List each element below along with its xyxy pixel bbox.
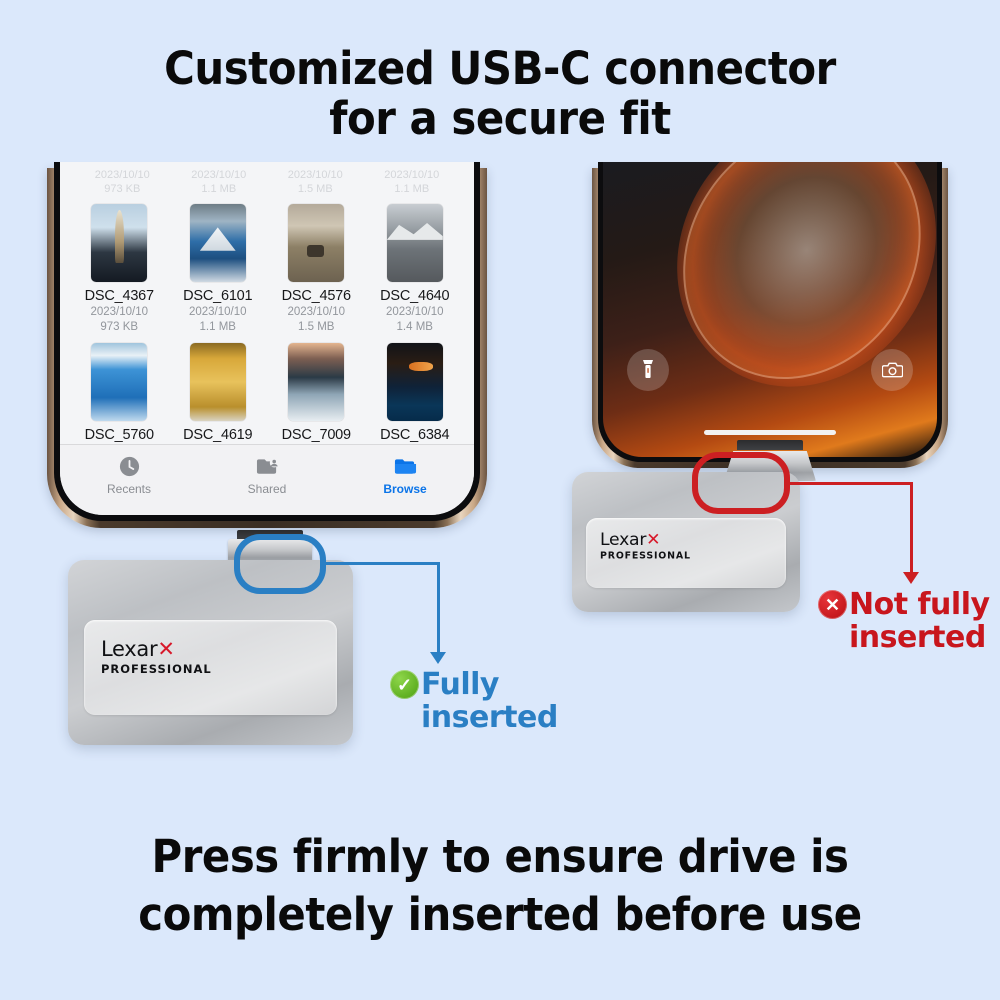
partial-date: 2023/10/10 [171, 168, 268, 182]
partial-date: 2023/10/10 [74, 168, 171, 182]
file-tile[interactable]: DSC_4619 [171, 335, 266, 444]
partial-date: 2023/10/10 [364, 168, 461, 182]
leader-arrowhead [430, 652, 446, 664]
phone-right-screen [603, 162, 937, 457]
lexar-wordmark: Lexar✕ [101, 638, 175, 660]
lexar-tier: PROFESSIONAL [600, 550, 691, 561]
leader-horizontal [786, 482, 913, 485]
headline: Customized USB-C connector for a secure … [35, 44, 965, 144]
file-size: 1.5 MB [269, 320, 364, 335]
callout-line-2: inserted [421, 701, 558, 734]
file-thumbnail [387, 343, 443, 421]
partial-meta-cell: 2023/10/10 973 KB [74, 168, 171, 196]
camera-icon [882, 361, 903, 379]
file-tile[interactable]: DSC_6384 [368, 335, 463, 444]
partial-meta-cell: 2023/10/10 1.1 MB [171, 168, 268, 196]
file-thumbnail [288, 343, 344, 421]
tab-shared[interactable]: Shared [198, 453, 336, 497]
file-thumbnail [387, 204, 443, 282]
file-name: DSC_7009 [269, 427, 364, 444]
footer-line-2: completely inserted before use [35, 886, 965, 944]
file-date: 2023/10/10 [368, 305, 463, 320]
file-grid-row-2: DSC_5760 DSC_4619 DSC_7009 DSC_6384 [60, 335, 474, 444]
tab-recents[interactable]: Recents [60, 453, 198, 497]
file-grid-row-1: DSC_4367 2023/10/10 973 KB DSC_6101 2023… [60, 196, 474, 335]
file-tile[interactable]: DSC_4576 2023/10/10 1.5 MB [269, 196, 364, 335]
partial-meta-cell: 2023/10/10 1.5 MB [267, 168, 364, 196]
lexar-brand-left: Lexar✕ PROFESSIONAL [101, 638, 212, 676]
files-tab-bar: Recents Shared [60, 444, 474, 515]
file-name: DSC_5760 [72, 427, 167, 444]
lexar-x-accent: ✕ [157, 637, 174, 661]
file-thumbnail [288, 204, 344, 282]
files-partial-top-row: 2023/10/10 973 KB 2023/10/10 1.1 MB 2023… [60, 162, 474, 196]
phone-left-screen: 2023/10/10 973 KB 2023/10/10 1.1 MB 2023… [60, 162, 474, 515]
connector-neck [737, 440, 803, 450]
cross-icon: ✕ [818, 590, 847, 619]
check-icon: ✓ [390, 670, 419, 699]
callout-text: Fully inserted [421, 668, 558, 734]
callout-line-1: Fully [421, 667, 499, 702]
camera-button[interactable] [871, 349, 913, 391]
footer-caption: Press firmly to ensure drive is complete… [35, 828, 965, 944]
file-name: DSC_4619 [171, 427, 266, 444]
file-size: 1.1 MB [171, 320, 266, 335]
file-name: DSC_6384 [368, 427, 463, 444]
clock-icon [60, 453, 198, 479]
leader-horizontal [320, 562, 440, 565]
file-tile[interactable]: DSC_4640 2023/10/10 1.4 MB [368, 196, 463, 335]
partial-size: 1.1 MB [364, 182, 461, 196]
leader-arrowhead [903, 572, 919, 584]
lexar-x-accent: ✕ [646, 529, 660, 549]
file-thumbnail [91, 343, 147, 421]
highlight-ring-fully-inserted [234, 534, 326, 594]
flashlight-icon [640, 359, 656, 381]
file-date: 2023/10/10 [269, 305, 364, 320]
file-name: DSC_4640 [368, 288, 463, 305]
lexar-wordmark: Lexar✕ [600, 530, 660, 548]
file-thumbnail [190, 204, 246, 282]
callout-line-1: Not fully [849, 587, 990, 622]
file-tile[interactable]: DSC_6101 2023/10/10 1.1 MB [171, 196, 266, 335]
headline-line-2: for a secure fit [35, 94, 965, 144]
phone-right-bezel [598, 162, 942, 462]
phone-left: 2023/10/10 973 KB 2023/10/10 1.1 MB 2023… [47, 168, 487, 528]
leader-vertical [910, 482, 913, 574]
file-name: DSC_4576 [269, 288, 364, 305]
lexar-tier: PROFESSIONAL [101, 662, 212, 676]
lexar-text-part: Lexar [101, 637, 157, 661]
file-thumbnail [91, 204, 147, 282]
callout-not-fully-inserted: ✕ Not fully inserted [818, 588, 990, 654]
home-indicator [704, 430, 836, 435]
callout-fully-inserted: ✓ Fully inserted [390, 668, 558, 734]
lexar-brand-right: Lexar✕ PROFESSIONAL [600, 530, 691, 561]
highlight-ring-not-fully-inserted [692, 452, 790, 514]
folder-icon [336, 453, 474, 479]
file-date: 2023/10/10 [72, 305, 167, 320]
partial-size: 1.5 MB [267, 182, 364, 196]
lexar-text-part: Lexar [600, 529, 646, 549]
file-size: 1.4 MB [368, 320, 463, 335]
file-size: 973 KB [72, 320, 167, 335]
file-name: DSC_6101 [171, 288, 266, 305]
file-tile[interactable]: DSC_4367 2023/10/10 973 KB [72, 196, 167, 335]
headline-line-1: Customized USB-C connector [35, 44, 965, 94]
tab-label: Browse [336, 481, 474, 497]
file-tile[interactable]: DSC_7009 [269, 335, 364, 444]
leader-vertical [437, 562, 440, 654]
phone-left-bezel: 2023/10/10 973 KB 2023/10/10 1.1 MB 2023… [54, 162, 480, 521]
partial-date: 2023/10/10 [267, 168, 364, 182]
tab-label: Shared [198, 481, 336, 497]
callout-text: Not fully inserted [849, 588, 990, 654]
partial-size: 973 KB [74, 182, 171, 196]
partial-size: 1.1 MB [171, 182, 268, 196]
flashlight-button[interactable] [627, 349, 669, 391]
file-date: 2023/10/10 [171, 305, 266, 320]
file-thumbnail [190, 343, 246, 421]
partial-meta-cell: 2023/10/10 1.1 MB [364, 168, 461, 196]
tab-label: Recents [60, 481, 198, 497]
callout-line-2: inserted [849, 621, 990, 654]
tab-browse[interactable]: Browse [336, 453, 474, 497]
file-tile[interactable]: DSC_5760 [72, 335, 167, 444]
files-app: 2023/10/10 973 KB 2023/10/10 1.1 MB 2023… [60, 162, 474, 444]
footer-line-1: Press firmly to ensure drive is [35, 828, 965, 886]
shared-folder-icon [198, 453, 336, 479]
phone-right [592, 168, 948, 468]
file-name: DSC_4367 [72, 288, 167, 305]
